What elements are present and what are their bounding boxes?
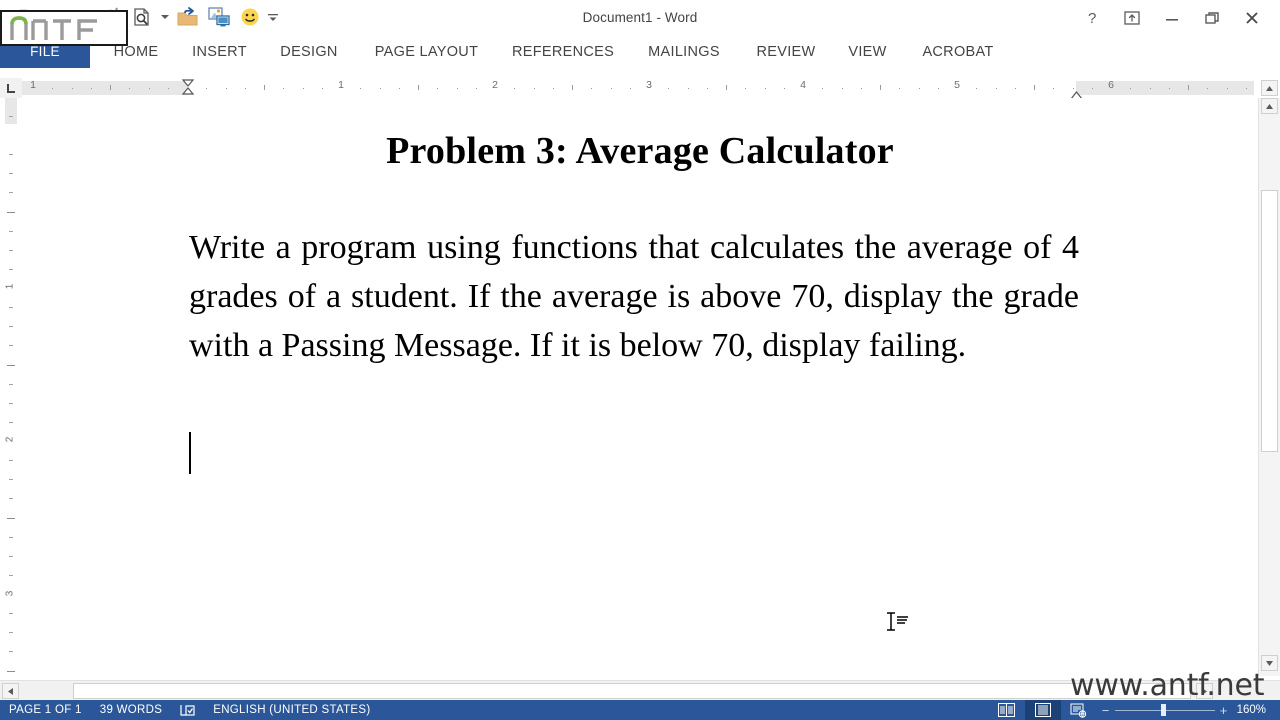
help-button[interactable]: ? (1072, 2, 1112, 34)
zoom-slider-thumb[interactable] (1161, 704, 1166, 716)
ruler-mark-6: 6 (1104, 79, 1118, 91)
tab-references[interactable]: REFERENCES (503, 35, 623, 68)
tab-design[interactable]: DESIGN (269, 35, 349, 68)
tab-stop-selector-button[interactable] (0, 78, 22, 98)
tab-review[interactable]: REVIEW (746, 35, 826, 68)
horizontal-ruler[interactable]: 1 1 2 3 4 5 6 (0, 78, 1280, 98)
window-controls: ? (1072, 0, 1272, 35)
ribbon-display-options-button[interactable] (1112, 2, 1152, 34)
zoom-out-button[interactable]: − (1097, 703, 1115, 718)
scroll-up-button[interactable] (1261, 98, 1278, 114)
tab-page-layout[interactable]: PAGE LAYOUT (360, 35, 493, 68)
antf-logo-icon (9, 15, 119, 41)
ruler-left-margin (22, 81, 187, 95)
antf-url-watermark: www.antf.net (1070, 668, 1264, 703)
web-layout-view-button[interactable] (1061, 700, 1097, 720)
vertical-scrollbar-thumb[interactable] (1261, 190, 1278, 452)
text-cursor-caret (189, 432, 191, 474)
word-application-window: W (0, 0, 1280, 720)
tab-view[interactable]: VIEW (840, 35, 895, 68)
ribbon-tab-bar: FILE HOME INSERT DESIGN PAGE LAYOUT REFE… (0, 35, 1280, 68)
close-button[interactable] (1232, 2, 1272, 34)
tab-acrobat[interactable]: ACROBAT (906, 35, 1010, 68)
document-paragraph: Write a program using functions that cal… (189, 223, 1079, 370)
status-bar-right-group: − + 160% (989, 700, 1280, 720)
restore-button[interactable] (1192, 2, 1232, 34)
status-language[interactable]: ENGLISH (UNITED STATES) (204, 700, 379, 720)
zoom-slider-track[interactable] (1115, 700, 1215, 720)
ruler-mark-3: 3 (642, 79, 656, 91)
ruler-mark-5: 5 (950, 79, 964, 91)
ruler-scroll-up-button[interactable] (1261, 80, 1278, 96)
document-page[interactable]: Problem 3: Average Calculator Write a pr… (22, 98, 1258, 676)
ruler-mark-4: 4 (796, 79, 810, 91)
horizontal-scrollbar-thumb[interactable] (73, 683, 1191, 699)
vruler-mark-3: 3 (5, 587, 16, 601)
zoom-in-button[interactable]: + (1215, 703, 1233, 718)
tab-mailings[interactable]: MAILINGS (635, 35, 733, 68)
vertical-scrollbar[interactable] (1258, 98, 1280, 676)
status-word-count[interactable]: 39 WORDS (91, 700, 171, 720)
print-layout-view-button[interactable] (1025, 700, 1061, 720)
status-page-count[interactable]: PAGE 1 OF 1 (0, 700, 91, 720)
minimize-button[interactable] (1152, 2, 1192, 34)
svg-text:?: ? (1088, 10, 1096, 26)
zoom-slider-group[interactable]: − + 160% (1097, 700, 1280, 720)
vertical-ruler[interactable]: 1 2 3 (0, 98, 22, 678)
ruler-mark-left-1: 1 (26, 79, 40, 91)
document-body-text[interactable]: Write a program using functions that cal… (189, 223, 1079, 370)
ruler-mark-1: 1 (334, 79, 348, 91)
vruler-mark-2: 2 (5, 433, 16, 447)
status-bar: PAGE 1 OF 1 39 WORDS ENGLISH (UNITED STA… (0, 700, 1280, 720)
scroll-left-button[interactable] (2, 683, 19, 699)
read-mode-view-button[interactable] (989, 700, 1025, 720)
proofing-errors-icon[interactable] (171, 700, 204, 720)
document-scroll-region[interactable]: Problem 3: Average Calculator Write a pr… (22, 98, 1258, 676)
antf-logo-watermark (0, 10, 128, 46)
title-bar: W (0, 0, 1280, 35)
document-heading: Problem 3: Average Calculator (22, 129, 1258, 173)
vruler-mark-1: 1 (5, 280, 16, 294)
tab-insert[interactable]: INSERT (183, 35, 256, 68)
mouse-ibeam-cursor (884, 610, 910, 636)
ruler-mark-2: 2 (488, 79, 502, 91)
vertical-ruler-top-margin (5, 98, 17, 124)
zoom-level-label[interactable]: 160% (1233, 704, 1274, 716)
